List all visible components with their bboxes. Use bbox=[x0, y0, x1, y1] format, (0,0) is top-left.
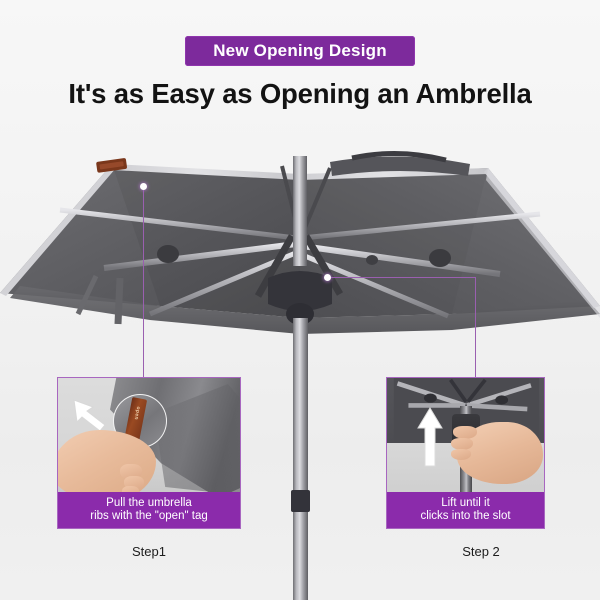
step-2-caption-line2: clicks into the slot bbox=[420, 510, 510, 524]
detail-joint-left bbox=[424, 394, 437, 403]
leader-dot-right bbox=[324, 274, 331, 281]
rib-joint-mid-right bbox=[366, 255, 378, 265]
pole-lower bbox=[293, 318, 308, 600]
step-1-label: Step1 bbox=[59, 544, 239, 559]
step-1-callout-panel[interactable]: open Pull the umbrella ribs with the "op… bbox=[57, 377, 241, 529]
leader-line-right-horizontal bbox=[330, 277, 476, 278]
step-1-photo: open bbox=[58, 378, 240, 494]
product-infographic: New Opening Design It's as Easy as Openi… bbox=[0, 0, 600, 600]
badge-new-opening-design: New Opening Design bbox=[185, 36, 415, 66]
step-2-caption: Lift until it clicks into the slot bbox=[387, 492, 544, 528]
open-tag-label: open bbox=[133, 405, 142, 421]
strut-drop-left bbox=[118, 278, 120, 324]
step-2-callout-panel[interactable]: Lift until it clicks into the slot bbox=[386, 377, 545, 529]
leader-line-left-vertical bbox=[143, 188, 144, 378]
step-1-caption-line2: ribs with the "open" tag bbox=[90, 510, 207, 524]
step-2-label: Step 2 bbox=[391, 544, 571, 559]
page-title: It's as Easy as Opening an Ambrella bbox=[0, 78, 600, 110]
badge-label: New Opening Design bbox=[213, 41, 387, 61]
detail-joint-right bbox=[495, 395, 508, 404]
step-1-caption: Pull the umbrella ribs with the "open" t… bbox=[58, 492, 240, 528]
rib-joint-left bbox=[157, 245, 179, 263]
step-1-caption-line1: Pull the umbrella bbox=[106, 497, 192, 511]
arrow-up-icon bbox=[417, 406, 443, 473]
step-2-caption-line1: Lift until it bbox=[441, 497, 490, 511]
rib-joint-right bbox=[429, 249, 451, 267]
detail-finger-3 bbox=[451, 449, 471, 460]
leader-dot-left bbox=[140, 183, 147, 190]
pole-adjustment-collar bbox=[291, 490, 310, 512]
step-2-photo bbox=[387, 378, 544, 494]
leader-line-right-vertical bbox=[475, 277, 476, 378]
pole-upper bbox=[293, 156, 307, 266]
